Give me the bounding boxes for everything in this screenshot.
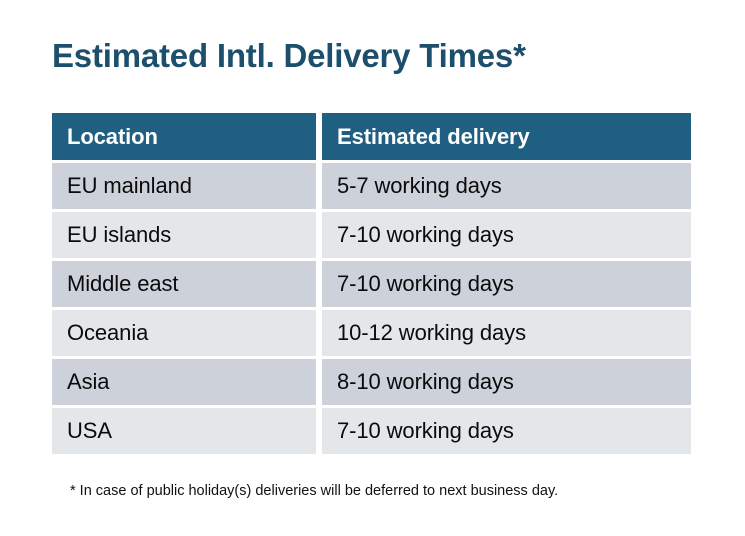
delivery-times-page: Estimated Intl. Delivery Times* Location…	[0, 0, 745, 536]
cell-location: Middle east	[52, 261, 316, 307]
delivery-times-table: Location Estimated delivery EU mainland …	[52, 113, 691, 454]
cell-estimated-delivery: 7-10 working days	[322, 261, 691, 307]
table-row: Oceania 10-12 working days	[52, 310, 691, 356]
cell-estimated-delivery: 7-10 working days	[322, 408, 691, 454]
column-header-estimated-delivery: Estimated delivery	[322, 113, 691, 160]
cell-location: Asia	[52, 359, 316, 405]
cell-location: EU mainland	[52, 163, 316, 209]
table-row: EU mainland 5-7 working days	[52, 163, 691, 209]
table-row: EU islands 7-10 working days	[52, 212, 691, 258]
cell-location: EU islands	[52, 212, 316, 258]
cell-location: Oceania	[52, 310, 316, 356]
table-row: Asia 8-10 working days	[52, 359, 691, 405]
cell-location: USA	[52, 408, 316, 454]
table-header-row: Location Estimated delivery	[52, 113, 691, 160]
cell-estimated-delivery: 7-10 working days	[322, 212, 691, 258]
cell-estimated-delivery: 8-10 working days	[322, 359, 691, 405]
footnote: * In case of public holiday(s) deliverie…	[70, 481, 558, 501]
table-row: USA 7-10 working days	[52, 408, 691, 454]
table-row: Middle east 7-10 working days	[52, 261, 691, 307]
cell-estimated-delivery: 5-7 working days	[322, 163, 691, 209]
page-title: Estimated Intl. Delivery Times*	[52, 36, 526, 76]
column-header-location: Location	[52, 113, 316, 160]
cell-estimated-delivery: 10-12 working days	[322, 310, 691, 356]
